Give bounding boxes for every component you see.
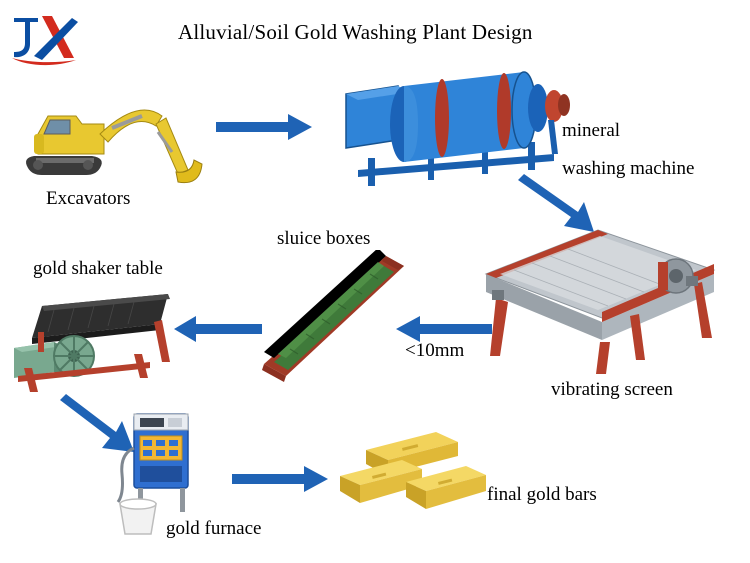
- jxsc-logo: [8, 12, 80, 68]
- arrow-sluice-to-shaker: [172, 308, 264, 344]
- arrow-furnace-to-bars: [230, 458, 330, 494]
- caption-final-gold-bars: final gold bars: [487, 484, 597, 506]
- caption-vibrating-screen: vibrating screen: [551, 379, 673, 401]
- excavator-illustration: [16, 72, 206, 190]
- caption-gold-shaker-table: gold shaker table: [33, 258, 163, 280]
- caption-excavators: Excavators: [46, 188, 130, 210]
- diagram-canvas: Alluvial/Soil Gold Washing Plant Design …: [0, 0, 750, 563]
- caption-gold-furnace: gold furnace: [166, 518, 261, 540]
- arrow-screen-to-sluice: [394, 308, 494, 344]
- sluice-boxes-illustration: [258, 250, 408, 386]
- caption-mineral: mineral: [562, 120, 620, 142]
- page-title: Alluvial/Soil Gold Washing Plant Design: [178, 20, 533, 45]
- edge-label-size-spec: <10mm: [405, 340, 464, 362]
- arrow-excavator-to-drum: [214, 106, 314, 142]
- vibrating-screen-illustration: [480, 218, 720, 378]
- final-gold-bars-illustration: [332, 420, 492, 520]
- caption-sluice-boxes: sluice boxes: [277, 228, 370, 250]
- gold-shaker-table-illustration: [8, 270, 180, 394]
